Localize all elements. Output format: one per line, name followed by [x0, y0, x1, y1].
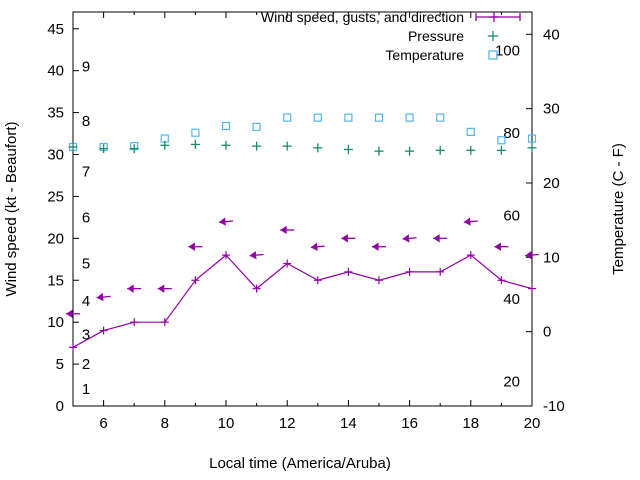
beaufort-label: 8	[82, 113, 90, 130]
y-right-tick-label: 20	[543, 175, 560, 192]
fahrenheit-label: 80	[503, 125, 520, 142]
chart-container: 68101214161820 051015202530354045 -10010…	[0, 0, 640, 480]
x-tick-label: 12	[279, 415, 296, 432]
y-left-tick-label: 15	[47, 272, 64, 289]
legend-label-pressure: Pressure	[408, 28, 464, 44]
y-left-tick-label: 40	[47, 63, 64, 80]
fahrenheit-label: 60	[503, 208, 520, 225]
x-tick-label: 6	[99, 415, 107, 432]
y-left-tick-label: 10	[47, 314, 64, 331]
y-left-tick-label: 45	[47, 21, 64, 38]
y-right-tick-label: 0	[543, 324, 551, 341]
y-right-tick-label: 40	[543, 26, 560, 43]
x-tick-label: 20	[524, 415, 541, 432]
y-right-tick-label: -10	[543, 398, 565, 415]
weather-chart: 68101214161820 051015202530354045 -10010…	[0, 0, 640, 480]
x-tick-label: 18	[462, 415, 479, 432]
beaufort-label: 7	[82, 163, 90, 180]
beaufort-label: 6	[82, 209, 90, 226]
x-tick-label: 14	[340, 415, 357, 432]
x-axis-title: Local time (America/Aruba)	[209, 455, 391, 472]
x-tick-label: 10	[218, 415, 235, 432]
y-left-tick-label: 25	[47, 188, 64, 205]
beaufort-label: 5	[82, 255, 90, 272]
beaufort-label: 2	[82, 356, 90, 373]
x-tick-label: 16	[401, 415, 418, 432]
y-right-tick-label: 30	[543, 101, 560, 118]
fahrenheit-label: 100	[495, 43, 520, 60]
legend-label-wind: Wind speed, gusts, and direction	[261, 9, 464, 25]
y-axis-right-title: Temperature (C - F)	[610, 143, 627, 275]
y-left-tick-label: 20	[47, 230, 64, 247]
y-left-tick-label: 30	[47, 147, 64, 164]
y-left-tick-label: 0	[56, 398, 64, 415]
y-left-tick-label: 35	[47, 105, 64, 122]
y-axis-left-title: Wind speed (kt - Beaufort)	[3, 121, 20, 296]
y-left-tick-label: 5	[56, 356, 64, 373]
fahrenheit-label: 40	[503, 291, 520, 308]
fahrenheit-label: 20	[503, 373, 520, 390]
legend-label-temperature: Temperature	[385, 47, 464, 63]
beaufort-label: 9	[82, 58, 90, 75]
y-right-tick-label: 10	[543, 249, 560, 266]
x-tick-label: 8	[161, 415, 169, 432]
beaufort-label: 1	[82, 381, 90, 398]
beaufort-label: 4	[82, 293, 90, 310]
